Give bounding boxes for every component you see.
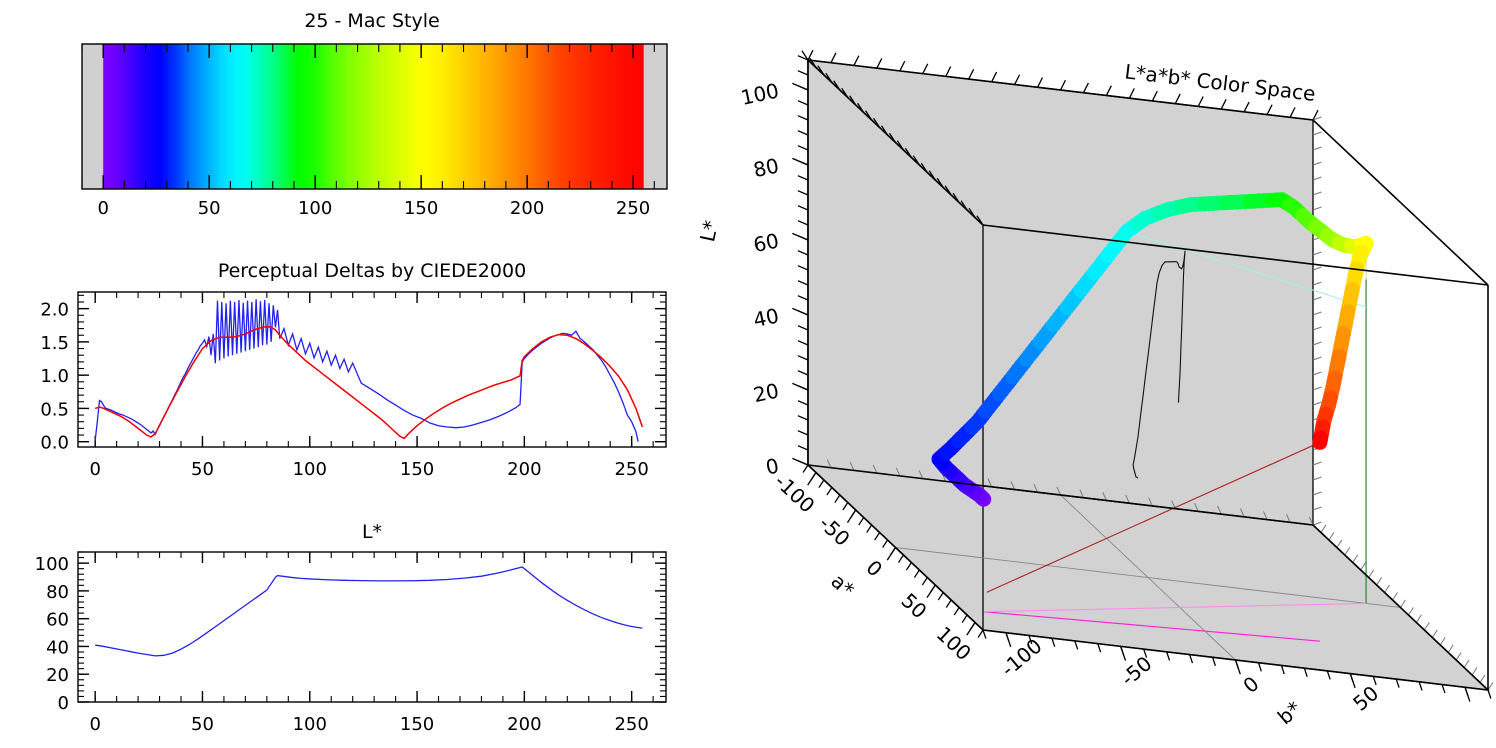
axis-tick [1313, 267, 1321, 270]
axis-tick [1052, 638, 1055, 647]
axis-tick [792, 308, 808, 315]
axis-tick [1440, 637, 1445, 645]
axis-tick [1313, 162, 1321, 165]
xtick-label: 250 [614, 714, 648, 735]
axis-tick [798, 221, 808, 225]
axis-tick [1480, 675, 1485, 683]
axis-tick [798, 401, 808, 405]
axis-tick [1221, 99, 1226, 109]
a-axis-tick-label: 100 [932, 622, 976, 666]
axis-tick [899, 555, 904, 563]
axis-tick [1393, 592, 1398, 600]
lightness-title: L* [362, 521, 382, 543]
axis-tick [1083, 83, 1088, 93]
xtick-label: 250 [614, 459, 648, 480]
scatter-point [1313, 433, 1328, 448]
axis-tick [798, 251, 808, 255]
axis-tick [1129, 88, 1134, 98]
axis-tick [969, 69, 974, 79]
axis-tick [1313, 402, 1321, 405]
axis-tick [1213, 657, 1216, 666]
axis-tick [1472, 667, 1477, 675]
axis-tick [859, 518, 864, 526]
l-axis-tick-label: 100 [739, 78, 781, 109]
ytick-label: 20 [46, 665, 69, 686]
axis-tick [946, 67, 951, 77]
deltas-xtick-labels: 050100150200250 [89, 459, 648, 480]
axis-tick [798, 356, 808, 360]
axis-tick [847, 510, 855, 523]
axis-tick [954, 608, 959, 616]
axis-tick [867, 525, 872, 533]
axis-tick [900, 61, 905, 71]
colorbar-xtick-label: 0 [97, 198, 108, 219]
axis-tick [1236, 660, 1241, 674]
axis-tick [1313, 507, 1321, 510]
axis-tick [1408, 607, 1413, 615]
axis-tick [1353, 555, 1358, 563]
axis-tick [1456, 652, 1461, 660]
axis-tick [967, 623, 975, 636]
xtick-label: 200 [507, 714, 541, 735]
a-axis-title: a* [826, 569, 859, 602]
axis-tick [1152, 91, 1157, 101]
series-line [95, 299, 638, 441]
axis-tick [906, 563, 911, 571]
ytick-label: 80 [46, 582, 69, 603]
axis-tick [1464, 660, 1469, 668]
axis-tick [1313, 492, 1321, 495]
axis-tick [798, 371, 808, 375]
deltas-frame [78, 292, 666, 447]
deltas-panel: Perceptual Deltas by CIEDE2000 0.00.51.0… [0, 245, 700, 490]
axis-tick [1313, 522, 1321, 525]
a-axis-tick-label: -50 [814, 511, 854, 551]
axis-tick [1345, 547, 1350, 555]
ytick-label: 1.5 [40, 333, 69, 354]
axis-tick [1313, 207, 1321, 210]
xtick-label: 0 [89, 714, 100, 735]
axis-tick [1313, 462, 1321, 465]
axis-tick [792, 458, 808, 465]
axis-tick [1442, 685, 1445, 694]
axis-tick [1401, 600, 1406, 608]
axis-tick [962, 615, 967, 623]
axis-tick [1361, 562, 1366, 570]
axis-tick [1313, 282, 1321, 285]
axis-tick [798, 146, 808, 150]
axis-tick [983, 630, 986, 639]
axis-tick [1075, 641, 1078, 650]
axis-tick [1313, 372, 1321, 375]
l-axis-tick-label: 80 [751, 153, 781, 182]
ytick-label: 0.5 [40, 399, 69, 420]
axis-tick [1313, 147, 1321, 150]
axis-tick [1373, 676, 1376, 685]
b-axis-tick-label: 0 [1238, 671, 1263, 698]
axis-tick [1313, 312, 1321, 315]
colorbar-title: 25 - Mac Style [304, 10, 439, 32]
axis-tick [798, 431, 808, 435]
colorbar-xtick-label: 250 [616, 198, 650, 219]
l-axis-tick-label: 20 [751, 378, 781, 407]
lightness-xtick-labels: 050100150200250 [89, 714, 648, 735]
axis-tick [1377, 577, 1382, 585]
deltas-series-group [95, 299, 642, 441]
axis-tick [854, 56, 859, 66]
axis-tick [1488, 690, 1491, 699]
axis-tick [1006, 633, 1011, 647]
axis-tick [1167, 652, 1170, 661]
ytick-label: 2.0 [40, 300, 69, 321]
axis-tick [1448, 645, 1453, 653]
axis-tick [1121, 646, 1126, 660]
axis-tick [798, 266, 808, 270]
axis-tick [798, 176, 808, 180]
axis-tick [1313, 177, 1321, 180]
colorbar-gradient [103, 44, 643, 189]
axis-tick [798, 101, 808, 105]
l-axis-tick-label: 40 [751, 303, 781, 332]
axis-tick [1432, 630, 1437, 638]
axis-tick [1106, 86, 1111, 96]
lightness-ticks [78, 552, 666, 702]
axis-tick [798, 206, 808, 210]
axis-tick [792, 383, 808, 390]
axis-tick [1350, 674, 1355, 688]
axis-tick [798, 296, 808, 300]
series-line [95, 327, 642, 439]
xtick-label: 100 [293, 714, 327, 735]
box-edge [1313, 120, 1488, 285]
axis-tick [927, 585, 935, 598]
ytick-label: 40 [46, 637, 69, 658]
axis-tick [1061, 80, 1066, 90]
colorbar-xtick-label: 50 [198, 198, 221, 219]
l-axis-tick-label: 0 [764, 453, 781, 479]
axis-tick [843, 503, 848, 511]
ytick-label: 1.0 [40, 366, 69, 387]
axis-tick [1267, 105, 1272, 115]
axis-tick [923, 64, 928, 74]
deltas-ytick-labels: 0.00.51.01.52.0 [40, 300, 69, 454]
axis-tick [798, 326, 808, 330]
axis-tick [1313, 252, 1321, 255]
axis-tick [1098, 644, 1101, 653]
lightness-panel: L* 020406080100 050100150200250 [0, 500, 700, 748]
axis-tick [803, 465, 808, 473]
axis-tick [792, 83, 808, 90]
axis-tick [914, 570, 919, 578]
colorbar-xtick-label: 150 [404, 198, 438, 219]
ytick-label: 0 [58, 693, 69, 714]
ytick-label: 60 [46, 610, 69, 631]
axis-tick [875, 533, 880, 541]
axis-tick [1419, 682, 1422, 691]
series-line [95, 567, 642, 656]
axis-tick [792, 233, 808, 240]
axis-tick [992, 72, 997, 82]
axis-tick [1416, 615, 1421, 623]
axis-tick [798, 446, 808, 450]
axis-tick [798, 116, 808, 120]
axis-tick [1281, 665, 1284, 674]
axis-tick [1244, 102, 1249, 112]
axis-tick [835, 495, 840, 503]
l-axis-tick-label: 60 [751, 228, 781, 257]
axis-tick [792, 158, 808, 165]
axis-tick [1385, 585, 1390, 593]
xtick-label: 50 [191, 714, 214, 735]
axis-tick [978, 630, 983, 638]
axis-tick [798, 71, 808, 75]
axis-tick [798, 131, 808, 135]
axis-tick [1313, 297, 1321, 300]
axis-tick [1321, 525, 1326, 533]
colorbar-xtick-label: 200 [510, 198, 544, 219]
axis-tick [831, 53, 836, 63]
lightness-frame [78, 552, 666, 702]
b-axis-title: b* [1273, 696, 1306, 729]
axis-tick [1337, 540, 1342, 548]
axis-tick [1327, 671, 1330, 680]
b-axis-tick-label: -100 [996, 634, 1046, 682]
xtick-label: 50 [191, 459, 214, 480]
colorbar-tick-labels: 050100150200250 [97, 198, 650, 219]
axis-tick [1290, 107, 1295, 117]
axis-tick [1313, 387, 1321, 390]
axis-tick [1313, 342, 1321, 345]
axis-tick [1465, 687, 1470, 701]
axis-tick [1038, 77, 1043, 87]
b-axis-tick-label: -50 [1116, 651, 1156, 690]
axis-tick [1313, 192, 1321, 195]
axis-tick [883, 540, 888, 548]
axis-tick [1369, 570, 1374, 578]
ytick-label: 100 [35, 554, 69, 575]
colorbar-xtick-label: 100 [298, 198, 332, 219]
l-axis-title: L* [695, 218, 723, 244]
deltas-title: Perceptual Deltas by CIEDE2000 [218, 260, 526, 282]
axis-tick [922, 578, 927, 586]
xtick-label: 200 [507, 459, 541, 480]
colorbar-panel: 25 - Mac Style 050100150200250 [0, 0, 700, 240]
axis-tick [887, 548, 895, 561]
axis-tick [819, 480, 824, 488]
figure-canvas: 25 - Mac Style 050100150200250 Perceptua… [0, 0, 1496, 748]
axis-tick [877, 58, 882, 68]
axis-tick [1329, 532, 1334, 540]
axis-tick [1258, 663, 1261, 672]
axis-tick [798, 416, 808, 420]
axis-tick [827, 488, 832, 496]
lightness-ytick-labels: 020406080100 [35, 554, 69, 714]
b-axis-tick-label: 50 [1348, 681, 1383, 716]
ytick-label: 0.0 [40, 433, 69, 454]
axis-tick [808, 473, 816, 486]
lab-3d-title: L*a*b* Color Space [1123, 59, 1316, 105]
axis-tick [1313, 327, 1321, 330]
axis-tick [1175, 94, 1180, 104]
axis-tick [946, 600, 951, 608]
axis-tick [1304, 668, 1307, 677]
xtick-label: 100 [293, 459, 327, 480]
xtick-label: 150 [400, 459, 434, 480]
xtick-label: 150 [400, 714, 434, 735]
axis-tick [1313, 477, 1321, 480]
axis-tick [1015, 75, 1020, 85]
a-axis-tick-label: 50 [897, 588, 932, 623]
axis-tick [798, 281, 808, 285]
axis-tick [798, 191, 808, 195]
axis-tick [1198, 97, 1203, 107]
xtick-label: 0 [89, 459, 100, 480]
lab-3d-panel: -100-50050100-100-50050020406080100a*b*L… [690, 0, 1496, 748]
deltas-ticks [78, 292, 666, 447]
axis-tick [1313, 132, 1321, 135]
axis-tick [1313, 357, 1321, 360]
a-axis-tick-label: 0 [861, 555, 887, 581]
axis-tick [798, 341, 808, 345]
axis-tick [1190, 655, 1193, 664]
lightness-series-group [95, 567, 642, 656]
axis-tick [1424, 622, 1429, 630]
axis-tick [1396, 679, 1399, 688]
axis-tick [938, 593, 943, 601]
